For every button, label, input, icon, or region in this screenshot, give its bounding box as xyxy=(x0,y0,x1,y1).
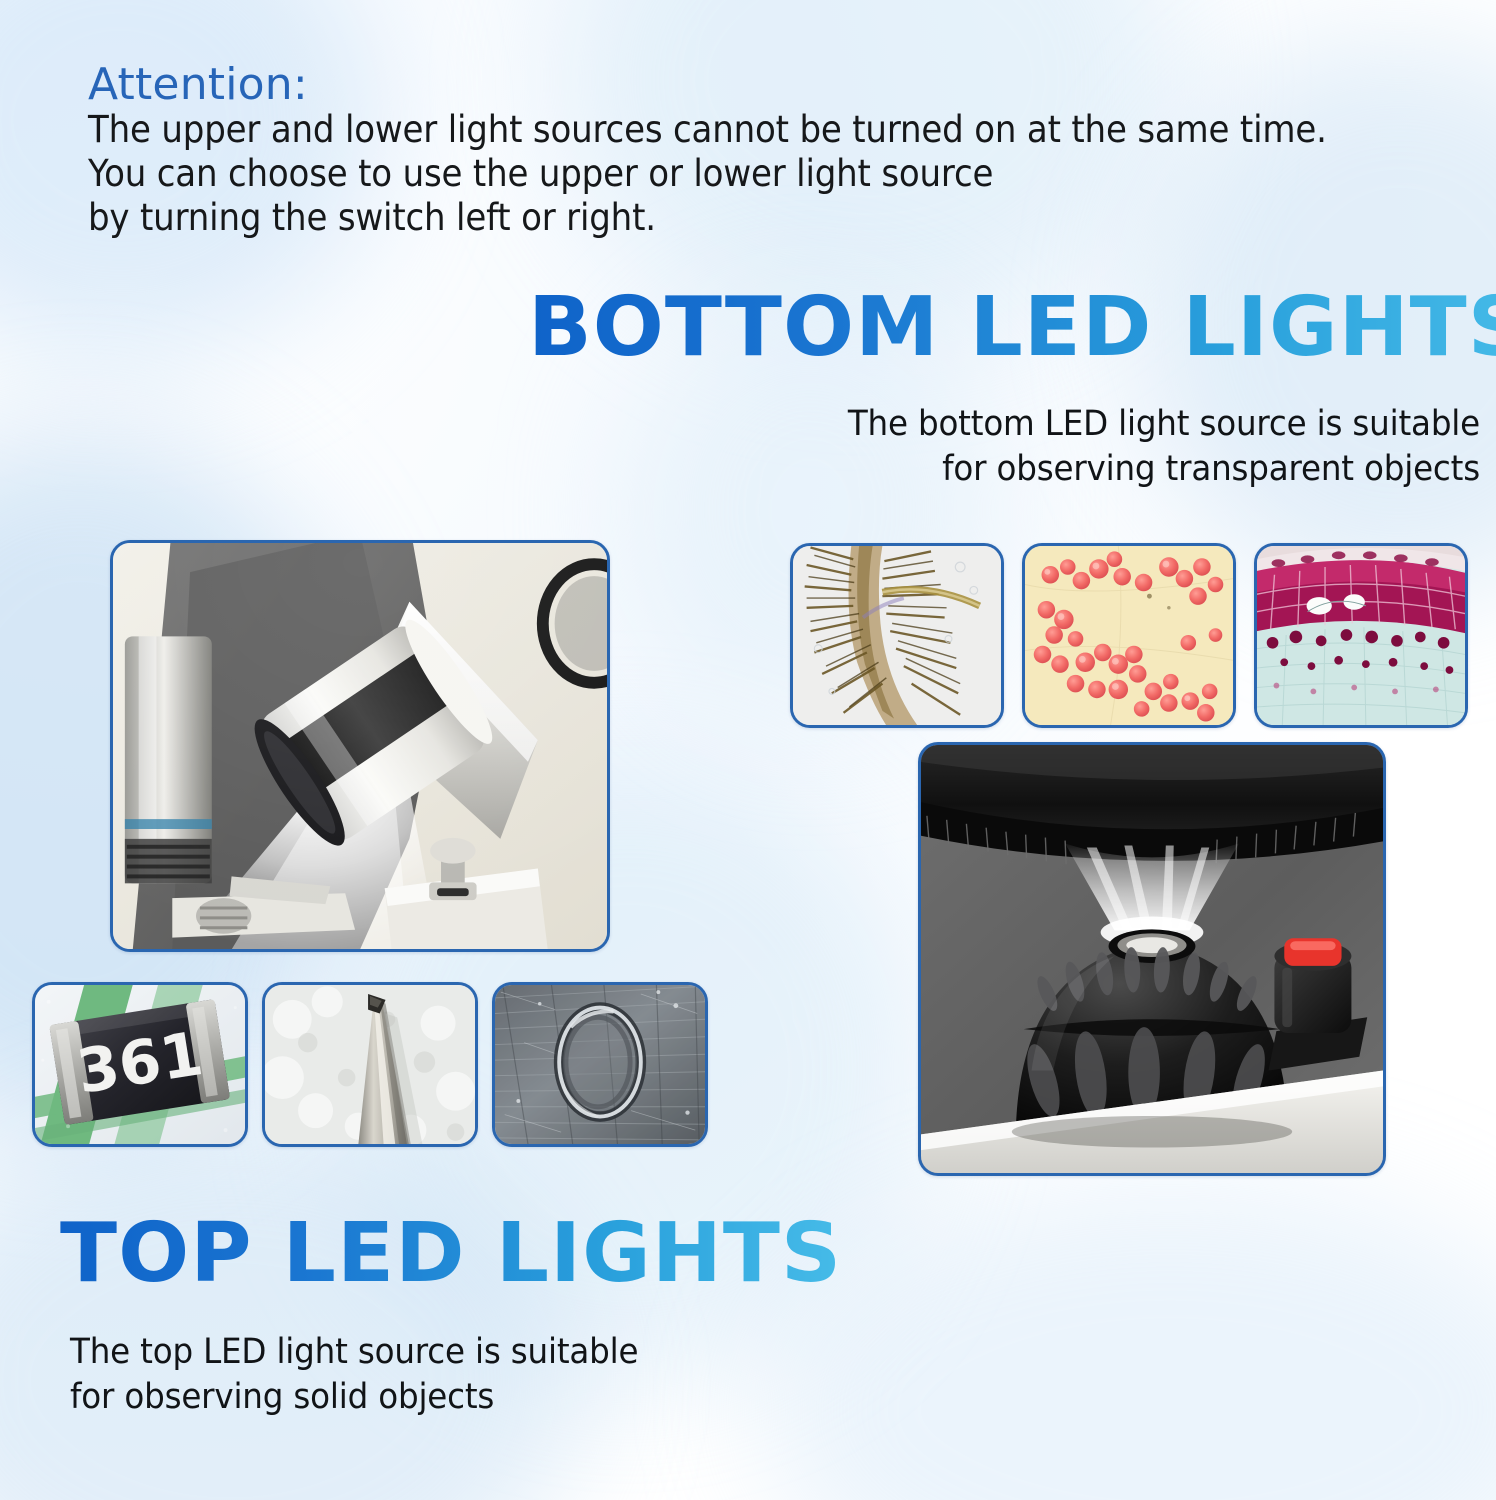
top-led-illuminator-photo xyxy=(110,540,610,952)
attention-title: Attention: xyxy=(88,62,1448,108)
description-top-led: The top LED light source is suitable for… xyxy=(70,1330,777,1420)
heading-bottom-led: BOTTOM LED LIGHTS xyxy=(528,287,1496,369)
attention-line-1: The upper and lower light sources cannot… xyxy=(88,108,1339,152)
red-blood-cells-sample xyxy=(1022,543,1236,728)
attention-line-2: You can choose to use the upper or lower… xyxy=(88,152,1339,196)
plant-stem-cross-section-sample xyxy=(1254,543,1468,728)
description-bottom-led-line-1: The bottom LED light source is suitable xyxy=(755,402,1480,447)
coin-surface-sample xyxy=(492,982,708,1147)
heading-top-led: TOP LED LIGHTS xyxy=(60,1213,842,1295)
bottom-led-illuminator-photo xyxy=(918,742,1386,1176)
description-bottom-led: The bottom LED light source is suitable … xyxy=(755,402,1480,492)
smd-resistor-sample: 361 xyxy=(32,982,248,1147)
description-top-led-line-1: The top LED light source is suitable xyxy=(70,1330,777,1375)
description-top-led-line-2: for observing solid objects xyxy=(70,1375,777,1420)
attention-block: Attention: The upper and lower light sou… xyxy=(88,62,1448,239)
insect-leg-bristles-sample xyxy=(790,543,1004,728)
description-bottom-led-line-2: for observing transparent objects xyxy=(755,447,1480,492)
needle-tip-sample xyxy=(262,982,478,1147)
infographic-canvas: Attention: The upper and lower light sou… xyxy=(0,0,1496,1500)
attention-line-3: by turning the switch left or right. xyxy=(88,196,1339,240)
